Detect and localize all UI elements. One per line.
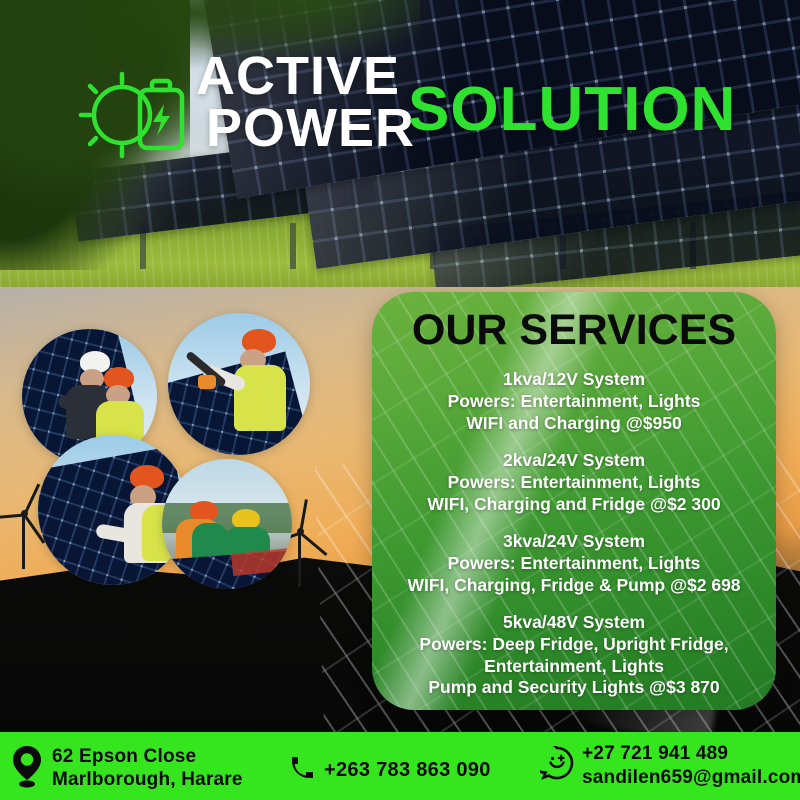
footer-address: 62 Epson Close Marlborough, Harare (10, 744, 243, 793)
footer-whatsapp[interactable]: +27 721 941 489 sandilen659@gmail.com (540, 742, 800, 790)
address-line-1: 62 Epson Close (52, 746, 243, 769)
location-pin-icon (10, 744, 44, 793)
address-line-2: Marlborough, Harare (52, 769, 243, 792)
service-name: 5kva/48V System (386, 612, 762, 634)
contact-footer: 62 Epson Close Marlborough, Harare +263 … (0, 732, 800, 800)
service-item-5kva: 5kva/48V System Powers: Deep Fridge, Upr… (386, 612, 762, 699)
collage-photo-worker-cleaning (168, 313, 310, 455)
panel-support-post (290, 223, 296, 269)
service-line: Powers: Entertainment, Lights (386, 553, 762, 575)
service-item-3kva: 3kva/24V System Powers: Entertainment, L… (386, 531, 762, 596)
brand-line-active: ACTIVE (196, 52, 400, 102)
whatsapp-number: +27 721 941 489 (582, 742, 800, 766)
footer-phone[interactable]: +263 783 863 090 (288, 754, 491, 787)
service-line: Pump and Security Lights @$3 870 (386, 677, 762, 699)
services-title: OUR SERVICES (386, 308, 762, 353)
sun-battery-logo-icon (78, 66, 194, 164)
service-line: WIFI, Charging and Fridge @$2 300 (386, 494, 762, 516)
service-line: Powers: Entertainment, Lights (386, 472, 762, 494)
service-line: WIFI and Charging @$950 (386, 413, 762, 435)
whatsapp-icon (540, 746, 574, 785)
service-line: WIFI, Charging, Fridge & Pump @$2 698 (386, 575, 762, 597)
phone-number: +263 783 863 090 (324, 759, 491, 782)
service-line: Powers: Deep Fridge, Upright Fridge, (386, 634, 762, 656)
service-item-1kva: 1kva/12V System Powers: Entertainment, L… (386, 369, 762, 434)
brand-line-solution: SOLUTION (408, 74, 736, 145)
phone-handset-icon (288, 754, 316, 787)
service-name: 3kva/24V System (386, 531, 762, 553)
solar-advert-flyer: ACTIVE POWER SOLUTION (0, 0, 800, 800)
service-name: 2kva/24V System (386, 450, 762, 472)
brand-line-power: POWER (206, 104, 415, 154)
collage-photo-rooftop-workers (162, 459, 292, 589)
brand-title: ACTIVE POWER SOLUTION (190, 52, 710, 172)
service-item-2kva: 2kva/24V System Powers: Entertainment, L… (386, 450, 762, 515)
hero-solar-farm-photo: ACTIVE POWER SOLUTION (0, 0, 800, 287)
email-address: sandilen659@gmail.com (582, 766, 800, 790)
service-name: 1kva/12V System (386, 369, 762, 391)
services-panel: OUR SERVICES 1kva/12V System Powers: Ent… (372, 292, 776, 710)
service-line: Powers: Entertainment, Lights (386, 391, 762, 413)
service-line: Entertainment, Lights (386, 656, 762, 678)
